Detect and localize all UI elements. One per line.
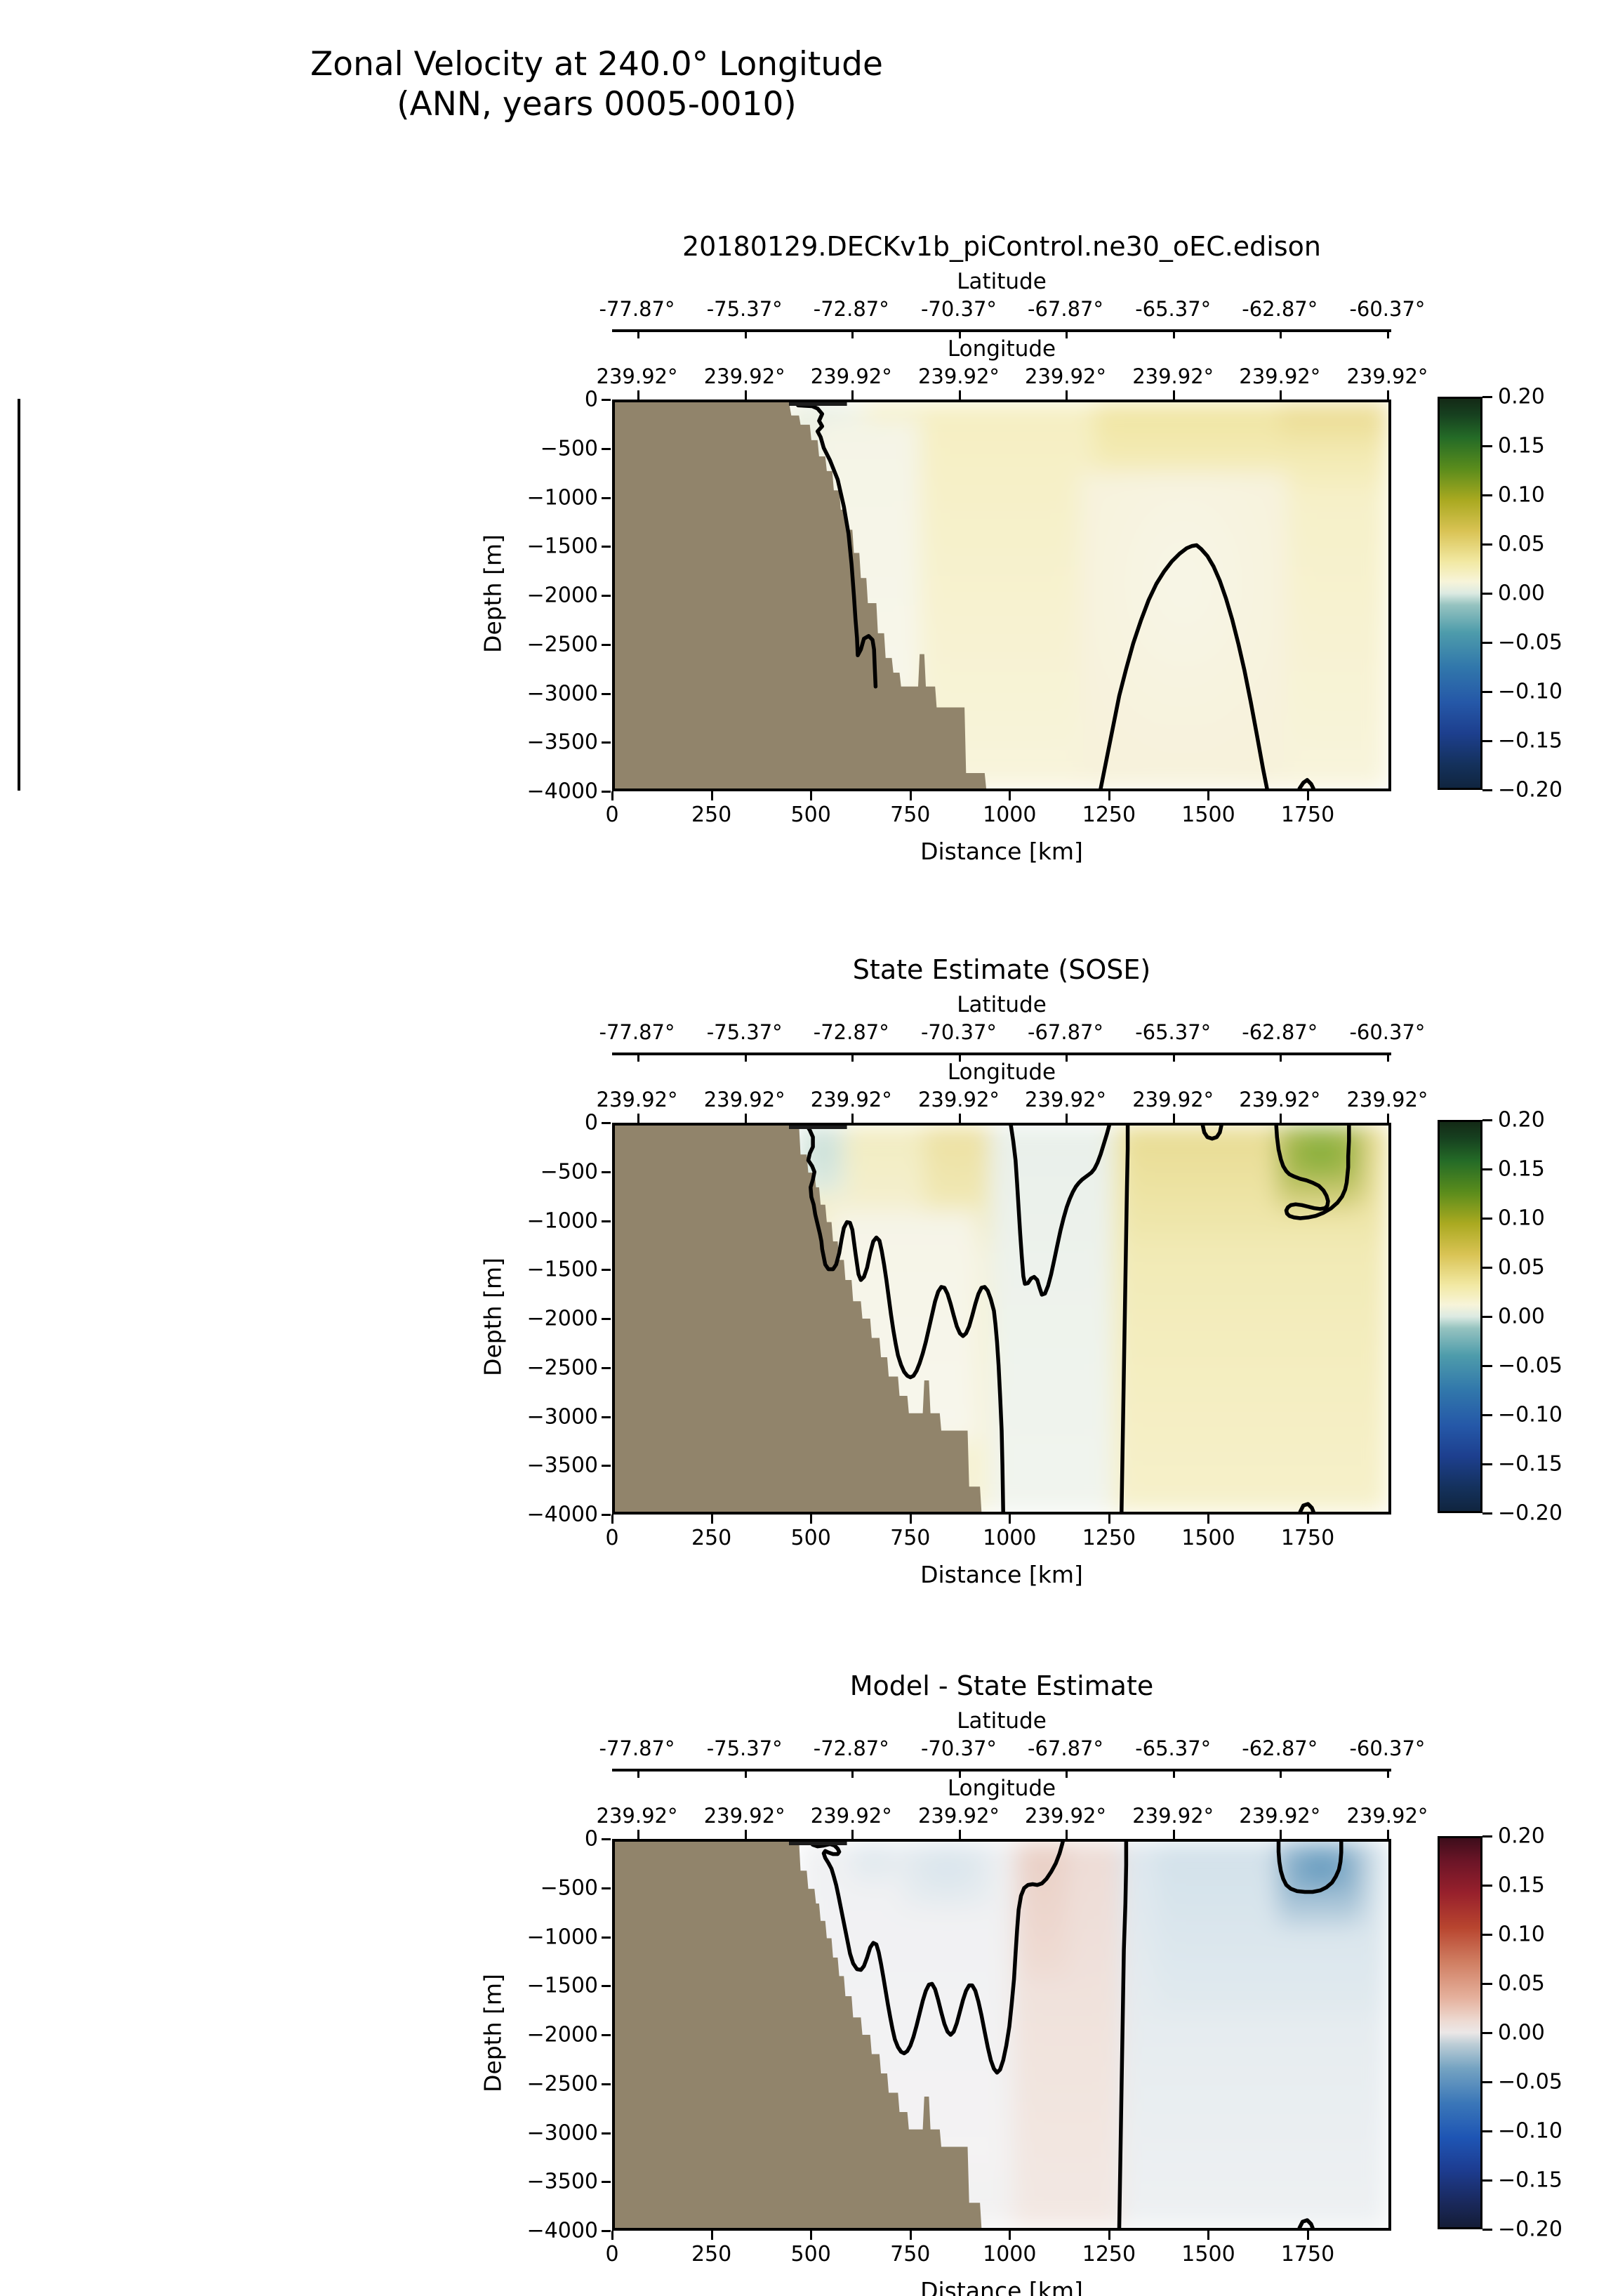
- longitude-tickmarks-model: [612, 390, 1391, 400]
- section-plot-sose: [612, 1123, 1391, 1515]
- depth-tickmark: [602, 1887, 611, 1889]
- colorbar-tick: 0.15: [1498, 1157, 1545, 1182]
- colorbar-tick: 0.00: [1498, 1305, 1545, 1329]
- latitude-tick: -62.87°: [1242, 1020, 1318, 1044]
- colorbar-tick: 0.10: [1498, 483, 1545, 508]
- latitude-axis-label-sose: Latitude: [612, 992, 1391, 1017]
- distance-tick: 500: [791, 2242, 831, 2267]
- longitude-tickmark: [745, 1830, 747, 1839]
- longitude-tick: 239.92°: [918, 1088, 1000, 1111]
- longitude-tick: 239.92°: [1346, 364, 1428, 388]
- distance-tick: 1250: [1082, 803, 1136, 827]
- longitude-tick: 239.92°: [1346, 1088, 1428, 1111]
- colorbar-tick: −0.15: [1498, 1452, 1562, 1477]
- distance-tick: 1000: [983, 2242, 1036, 2267]
- colorbar-tick: 0.20: [1498, 1824, 1545, 1849]
- distance-tickmark: [1207, 1515, 1209, 1524]
- distance-tick: 750: [890, 803, 930, 827]
- figure-suptitle: Zonal Velocity at 240.0° Longitude (ANN,…: [0, 6, 1193, 164]
- longitude-tickmark: [1387, 1114, 1389, 1123]
- distance-tickmark: [1108, 1515, 1110, 1524]
- depth-tick: −2000: [493, 1307, 598, 1331]
- colorbar-bias: [1438, 1836, 1482, 2229]
- colorbar-tick: −0.15: [1498, 729, 1562, 753]
- depth-tickmark: [602, 693, 611, 695]
- depth-tick: −3000: [493, 681, 598, 706]
- panel-title-sose: State Estimate (SOSE): [612, 954, 1391, 985]
- depth-tickmark: [602, 2181, 611, 2183]
- latitude-tick: -75.37°: [707, 1736, 783, 1760]
- distance-tickmark: [711, 2231, 713, 2240]
- depth-tick: −4000: [493, 1503, 598, 1527]
- distance-tick: 750: [890, 2242, 930, 2267]
- distance-tick: 1750: [1281, 2242, 1334, 2267]
- depth-tickmark: [602, 1220, 611, 1222]
- colorbar-tickmark: [1482, 2229, 1492, 2231]
- longitude-tickmark: [1066, 390, 1068, 400]
- depth-tickmark: [602, 546, 611, 548]
- distance-tickmark: [611, 791, 613, 800]
- distance-tick: 1500: [1181, 803, 1235, 827]
- depth-tick: 0: [493, 1827, 598, 1852]
- depth-tick: −4000: [493, 2219, 598, 2243]
- longitude-tick: 239.92°: [918, 364, 1000, 388]
- stray-axis-spine: [18, 399, 20, 791]
- depth-tick: −3000: [493, 2120, 598, 2145]
- distance-tick: 0: [605, 2242, 618, 2267]
- depth-tick: −1000: [493, 485, 598, 510]
- colorbar-tick: 0.20: [1498, 385, 1545, 409]
- colorbar-tick: 0.00: [1498, 581, 1545, 606]
- latitude-tick: -65.37°: [1135, 1020, 1211, 1044]
- depth-tick: −3000: [493, 1404, 598, 1429]
- longitude-tickmarks-sose: [612, 1114, 1391, 1123]
- suptitle-line-1: Zonal Velocity at 240.0° Longitude: [310, 45, 883, 84]
- colorbar-tickmark: [1482, 2130, 1492, 2132]
- distance-tickmark: [711, 1515, 713, 1524]
- distance-tickmark: [1207, 2231, 1209, 2240]
- distance-tick: 1250: [1082, 2242, 1136, 2267]
- depth-tick: −500: [493, 1159, 598, 1184]
- latitude-tick: -72.87°: [814, 297, 889, 321]
- longitude-tick: 239.92°: [597, 364, 678, 388]
- distance-axis-label-sose: Distance [km]: [612, 1561, 1391, 1588]
- longitude-tickmark: [1387, 1830, 1389, 1839]
- distance-tick: 0: [605, 803, 618, 827]
- latitude-axis-label-bias: Latitude: [612, 1708, 1391, 1734]
- latitude-tick: -77.87°: [599, 1020, 675, 1044]
- latitude-tick: -70.37°: [921, 1736, 997, 1760]
- distance-tick: 500: [791, 803, 831, 827]
- depth-tickmark: [602, 2132, 611, 2135]
- depth-tick: −500: [493, 436, 598, 461]
- longitude-tick: 239.92°: [1239, 1088, 1320, 1111]
- longitude-tick-labels-model: 239.92°239.92°239.92°239.92°239.92°239.9…: [612, 364, 1391, 391]
- longitude-tickmark: [1173, 390, 1175, 400]
- longitude-tick: 239.92°: [811, 1088, 892, 1111]
- latitude-tick: -70.37°: [921, 1020, 997, 1044]
- depth-tick: −2500: [493, 1355, 598, 1380]
- longitude-tickmark: [745, 390, 747, 400]
- colorbar-model: [1438, 397, 1482, 790]
- depth-tickmark: [602, 399, 611, 401]
- latitude-tick: -67.87°: [1028, 297, 1103, 321]
- depth-tickmark: [602, 1838, 611, 1840]
- longitude-tick: 239.92°: [704, 1804, 785, 1828]
- colorbar-tickmark: [1482, 1316, 1492, 1318]
- longitude-tickmark: [1280, 390, 1282, 400]
- colorbar-tick: −0.05: [1498, 2070, 1562, 2094]
- colorbar-tick: 0.20: [1498, 1108, 1545, 1133]
- distance-axis-label-model: Distance [km]: [612, 838, 1391, 865]
- colorbar-tick: 0.15: [1498, 434, 1545, 458]
- depth-tickmark: [602, 1318, 611, 1320]
- distance-tickmark: [1307, 2231, 1309, 2240]
- colorbar-gradient-model: [1440, 399, 1480, 788]
- colorbar-tick: 0.10: [1498, 1922, 1545, 1947]
- longitude-tickmark: [1173, 1830, 1175, 1839]
- longitude-axis-label-sose: Longitude: [612, 1060, 1391, 1085]
- longitude-tickmark: [1173, 1114, 1175, 1123]
- depth-tick: −4000: [493, 779, 598, 804]
- colorbar-tick: −0.10: [1498, 2119, 1562, 2144]
- latitude-tick-labels-sose: -77.87°-75.37°-72.87°-70.37°-67.87°-65.3…: [612, 1020, 1391, 1047]
- depth-tick: 0: [493, 1111, 598, 1135]
- longitude-tick: 239.92°: [1025, 1088, 1106, 1111]
- colorbar-tick: −0.20: [1498, 2217, 1562, 2242]
- colorbar-tick: 0.15: [1498, 1873, 1545, 1898]
- suptitle-line-2: (ANN, years 0005-0010): [0, 85, 1193, 124]
- longitude-tick-labels-bias: 239.92°239.92°239.92°239.92°239.92°239.9…: [612, 1804, 1391, 1830]
- depth-tick: −3500: [493, 730, 598, 755]
- longitude-tick: 239.92°: [704, 1088, 785, 1111]
- latitude-tick: -67.87°: [1028, 1020, 1103, 1044]
- depth-tickmark: [602, 1122, 611, 1124]
- longitude-tick: 239.92°: [811, 364, 892, 388]
- depth-tick: −2000: [493, 583, 598, 608]
- colorbar-tick: 0.05: [1498, 532, 1545, 557]
- longitude-tick: 239.92°: [1346, 1804, 1428, 1828]
- longitude-tickmark: [851, 1114, 854, 1123]
- distance-tickmark: [910, 791, 912, 800]
- depth-tickmark: [602, 1367, 611, 1369]
- colorbar-tickmark: [1482, 1512, 1492, 1515]
- depth-tickmark: [602, 1937, 611, 1939]
- distance-tick: 1000: [983, 803, 1036, 827]
- distance-tickmark: [810, 791, 812, 800]
- longitude-axis-label-bias: Longitude: [612, 1776, 1391, 1801]
- colorbar-tickmark: [1482, 396, 1492, 398]
- latitude-tick: -75.37°: [707, 1020, 783, 1044]
- colorbar-tickmark: [1482, 593, 1492, 595]
- depth-tick: −2500: [493, 632, 598, 657]
- longitude-tick: 239.92°: [1239, 364, 1320, 388]
- colorbar-tickmark: [1482, 1119, 1492, 1121]
- colorbar-tickmark: [1482, 1463, 1492, 1465]
- colorbar-tick: −0.05: [1498, 631, 1562, 655]
- latitude-tick: -60.37°: [1349, 1020, 1425, 1044]
- distance-tick: 1250: [1082, 1526, 1136, 1550]
- colorbar-tick: −0.15: [1498, 2168, 1562, 2193]
- colorbar-tick: 0.05: [1498, 1972, 1545, 1996]
- latitude-axis-label-model: Latitude: [612, 269, 1391, 294]
- depth-tickmark: [602, 1465, 611, 1467]
- colorbar-tickmark: [1482, 789, 1492, 791]
- colorbar-tick: −0.05: [1498, 1354, 1562, 1378]
- colorbar-tickmark: [1482, 1885, 1492, 1887]
- longitude-tickmark: [1280, 1830, 1282, 1839]
- depth-tickmark: [602, 1171, 611, 1173]
- depth-tickmark: [602, 2083, 611, 2085]
- section-plot-bias: [612, 1839, 1391, 2231]
- colorbar-tickmark: [1482, 1934, 1492, 1936]
- distance-tick: 250: [691, 803, 731, 827]
- latitude-tick-axis-sose: [612, 1053, 1391, 1055]
- depth-tick: −1500: [493, 1258, 598, 1282]
- colorbar-sose: [1438, 1120, 1482, 1513]
- longitude-tick: 239.92°: [1132, 364, 1214, 388]
- colorbar-tickmark: [1482, 691, 1492, 693]
- colorbar-tickmark: [1482, 642, 1492, 644]
- distance-tick: 0: [605, 1526, 618, 1550]
- colorbar-tickmark: [1482, 1267, 1492, 1269]
- figure-canvas: Zonal Velocity at 240.0° Longitude (ANN,…: [0, 0, 1599, 2296]
- distance-tickmark: [611, 1515, 613, 1524]
- longitude-tick: 239.92°: [918, 1804, 1000, 1828]
- distance-tickmark: [1009, 1515, 1011, 1524]
- latitude-tick: -70.37°: [921, 297, 997, 321]
- longitude-tick: 239.92°: [811, 1804, 892, 1828]
- longitude-tickmark: [637, 1114, 639, 1123]
- colorbar-tickmark: [1482, 1218, 1492, 1220]
- latitude-tick: -65.37°: [1135, 297, 1211, 321]
- longitude-tickmark: [851, 1830, 854, 1839]
- longitude-tickmark: [1387, 390, 1389, 400]
- distance-tickmark: [810, 2231, 812, 2240]
- longitude-tickmark: [1066, 1114, 1068, 1123]
- longitude-tick: 239.92°: [1239, 1804, 1320, 1828]
- latitude-tick: -77.87°: [599, 1736, 675, 1760]
- distance-tickmark: [910, 2231, 912, 2240]
- distance-tickmark: [611, 2231, 613, 2240]
- latitude-tick: -65.37°: [1135, 1736, 1211, 1760]
- depth-tickmark: [602, 2230, 611, 2232]
- latitude-tick: -72.87°: [814, 1736, 889, 1760]
- depth-tick: 0: [493, 388, 598, 412]
- distance-tick: 1750: [1281, 803, 1334, 827]
- colorbar-gradient-bias: [1440, 1838, 1480, 2227]
- depth-tickmark: [602, 2034, 611, 2036]
- distance-tickmark: [1207, 791, 1209, 800]
- distance-tickmark: [810, 1515, 812, 1524]
- depth-tick: −2500: [493, 2071, 598, 2096]
- latitude-tick-labels-bias: -77.87°-75.37°-72.87°-70.37°-67.87°-65.3…: [612, 1736, 1391, 1763]
- depth-tickmark: [602, 791, 611, 793]
- colorbar-tickmark: [1482, 1835, 1492, 1838]
- depth-tick: −1000: [493, 1925, 598, 1949]
- distance-tickmark: [1307, 1515, 1309, 1524]
- longitude-tickmark: [851, 390, 854, 400]
- colorbar-tickmark: [1482, 1414, 1492, 1416]
- depth-tickmark: [602, 448, 611, 450]
- distance-tick: 1500: [1181, 2242, 1235, 2267]
- distance-tickmark: [711, 791, 713, 800]
- latitude-tick-labels-model: -77.87°-75.37°-72.87°-70.37°-67.87°-65.3…: [612, 297, 1391, 324]
- depth-tick: −500: [493, 1875, 598, 1900]
- latitude-tick: -72.87°: [814, 1020, 889, 1044]
- longitude-tickmark: [959, 1830, 961, 1839]
- longitude-tick: 239.92°: [1132, 1804, 1214, 1828]
- latitude-tick: -75.37°: [707, 297, 783, 321]
- distance-tick: 500: [791, 1526, 831, 1550]
- distance-tickmark: [1108, 2231, 1110, 2240]
- colorbar-tickmark: [1482, 2032, 1492, 2034]
- longitude-tick: 239.92°: [704, 364, 785, 388]
- depth-tickmark: [602, 1985, 611, 1987]
- depth-tick: −1000: [493, 1208, 598, 1233]
- depth-tickmark: [602, 1269, 611, 1271]
- colorbar-tickmark: [1482, 1983, 1492, 1985]
- colorbar-tickmark: [1482, 543, 1492, 546]
- latitude-tick: -77.87°: [599, 297, 675, 321]
- colorbar-tick: 0.05: [1498, 1255, 1545, 1280]
- colorbar-tickmark: [1482, 2081, 1492, 2083]
- distance-tick: 250: [691, 2242, 731, 2267]
- longitude-tickmark: [637, 390, 639, 400]
- depth-tick: −2000: [493, 2023, 598, 2047]
- colorbar-tickmark: [1482, 445, 1492, 447]
- colorbar-tickmark: [1482, 494, 1492, 496]
- colorbar-tickmark: [1482, 1168, 1492, 1170]
- colorbar-tickmark: [1482, 2179, 1492, 2182]
- distance-tick: 1750: [1281, 1526, 1334, 1550]
- colorbar-tick: 0.00: [1498, 2021, 1545, 2045]
- longitude-tick-labels-sose: 239.92°239.92°239.92°239.92°239.92°239.9…: [612, 1088, 1391, 1114]
- longitude-tickmark: [745, 1114, 747, 1123]
- depth-tick: −3500: [493, 1453, 598, 1478]
- panel-title-model: 20180129.DECKv1b_piControl.ne30_oEC.edis…: [612, 231, 1391, 262]
- colorbar-tick: −0.20: [1498, 1501, 1562, 1526]
- latitude-tick: -67.87°: [1028, 1736, 1103, 1760]
- distance-tick: 250: [691, 1526, 731, 1550]
- depth-tick: −1500: [493, 1974, 598, 1998]
- distance-axis-label-bias: Distance [km]: [612, 2277, 1391, 2296]
- longitude-tickmark: [1066, 1830, 1068, 1839]
- latitude-tick: -62.87°: [1242, 1736, 1318, 1760]
- longitude-tick: 239.92°: [1025, 364, 1106, 388]
- depth-tickmark: [602, 595, 611, 597]
- latitude-tick: -60.37°: [1349, 1736, 1425, 1760]
- colorbar-gradient-sose: [1440, 1122, 1480, 1511]
- latitude-tick: -60.37°: [1349, 297, 1425, 321]
- distance-tick: 1000: [983, 1526, 1036, 1550]
- distance-tickmark: [1009, 791, 1011, 800]
- longitude-tick: 239.92°: [597, 1804, 678, 1828]
- distance-tick: 1500: [1181, 1526, 1235, 1550]
- distance-tick: 750: [890, 1526, 930, 1550]
- longitude-tickmark: [1280, 1114, 1282, 1123]
- latitude-tick-axis-model: [612, 329, 1391, 332]
- distance-tickmark: [910, 1515, 912, 1524]
- longitude-tickmark: [959, 1114, 961, 1123]
- longitude-tickmarks-bias: [612, 1830, 1391, 1839]
- distance-tickmark: [1108, 791, 1110, 800]
- distance-tickmark: [1009, 2231, 1011, 2240]
- colorbar-tick: −0.20: [1498, 778, 1562, 803]
- distance-tickmark: [1307, 791, 1309, 800]
- longitude-tickmark: [637, 1830, 639, 1839]
- latitude-tick: -62.87°: [1242, 297, 1318, 321]
- depth-tick: −3500: [493, 2170, 598, 2194]
- longitude-tick: 239.92°: [1025, 1804, 1106, 1828]
- colorbar-tick: 0.10: [1498, 1206, 1545, 1231]
- depth-tickmark: [602, 741, 611, 744]
- colorbar-tickmark: [1482, 740, 1492, 742]
- depth-tickmark: [602, 497, 611, 499]
- longitude-tickmark: [959, 390, 961, 400]
- colorbar-tick: −0.10: [1498, 680, 1562, 704]
- depth-tickmark: [602, 1416, 611, 1418]
- section-plot-model: [612, 400, 1391, 791]
- depth-tickmark: [602, 1514, 611, 1516]
- longitude-tick: 239.92°: [597, 1088, 678, 1111]
- latitude-tick-axis-bias: [612, 1769, 1391, 1772]
- colorbar-tickmark: [1482, 1365, 1492, 1367]
- depth-tickmark: [602, 644, 611, 646]
- longitude-axis-label-model: Longitude: [612, 336, 1391, 362]
- longitude-tick: 239.92°: [1132, 1088, 1214, 1111]
- panel-title-bias: Model - State Estimate: [612, 1670, 1391, 1701]
- depth-tick: −1500: [493, 534, 598, 559]
- colorbar-tick: −0.10: [1498, 1403, 1562, 1427]
